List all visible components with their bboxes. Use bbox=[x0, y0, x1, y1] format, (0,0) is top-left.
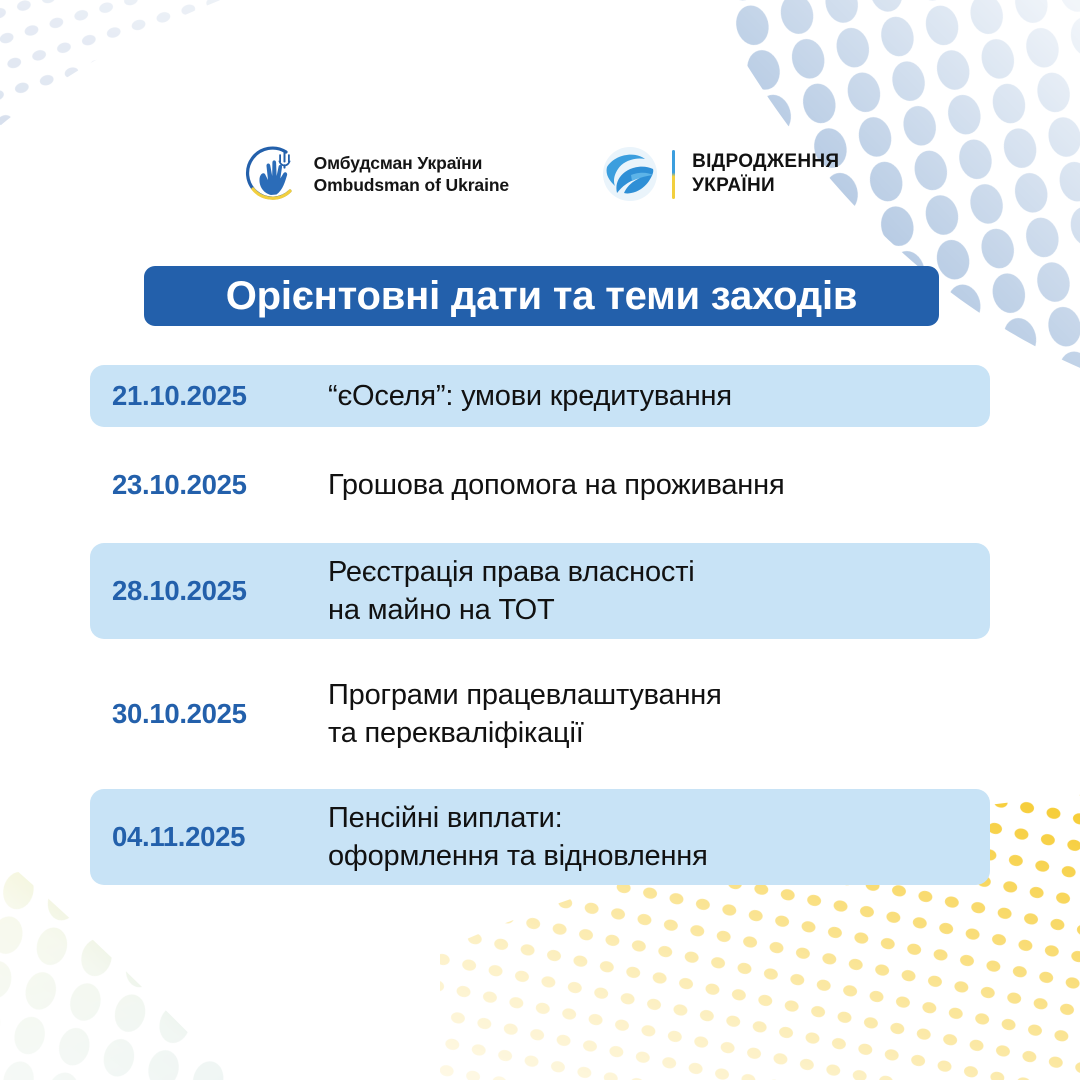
row-topic-line2: оформлення та відновлення bbox=[328, 837, 990, 875]
vidrodzhennia-logo-line1: ВІДРОДЖЕННЯ bbox=[692, 150, 839, 174]
table-row[interactable]: 28.10.2025 Реєстрація права власностіна … bbox=[90, 543, 990, 639]
row-date: 30.10.2025 bbox=[112, 698, 328, 730]
page-title-banner: Орієнтовні дати та теми заходів bbox=[144, 266, 939, 326]
row-topic: “єОселя”: умови кредитування bbox=[328, 377, 990, 415]
row-topic-line2: та перекваліфікації bbox=[328, 714, 990, 752]
row-topic-line1: Грошова допомога на проживання bbox=[328, 469, 784, 501]
table-row[interactable]: 23.10.2025 Грошова допомога на проживанн… bbox=[90, 454, 990, 516]
page-title: Орієнтовні дати та теми заходів bbox=[226, 276, 858, 316]
vidrodzhennia-logo: ВІДРОДЖЕННЯ УКРАЇНИ bbox=[601, 145, 839, 203]
row-spacer bbox=[90, 762, 990, 789]
schedule-list: 21.10.2025 “єОселя”: умови кредитування … bbox=[90, 365, 990, 885]
row-spacer bbox=[90, 639, 990, 666]
row-topic: Реєстрація права власностіна майно на ТО… bbox=[328, 553, 990, 630]
row-date: 23.10.2025 bbox=[112, 469, 328, 501]
ombudsman-logo: Омбудсман України Ombudsman of Ukraine bbox=[241, 143, 509, 205]
vidrodzhennia-logo-line2: УКРАЇНИ bbox=[692, 174, 839, 198]
row-spacer bbox=[90, 516, 990, 543]
ombudsman-logo-text: Омбудсман України Ombudsman of Ukraine bbox=[314, 152, 509, 196]
row-topic-line1: Реєстрація права власності bbox=[328, 556, 695, 588]
ombudsman-hand-trident-icon bbox=[241, 143, 303, 205]
row-date: 21.10.2025 bbox=[112, 380, 328, 412]
logo-row: Омбудсман України Ombudsman of Ukraine В… bbox=[0, 134, 1080, 214]
table-row[interactable]: 04.11.2025 Пенсійні виплати:оформлення т… bbox=[90, 789, 990, 885]
row-topic-line1: Пенсійні виплати: bbox=[328, 802, 563, 834]
vidrodzhennia-logo-text: ВІДРОДЖЕННЯ УКРАЇНИ bbox=[692, 150, 839, 199]
logo-divider bbox=[672, 150, 675, 199]
row-topic: Програми працевлаштуваннята перекваліфік… bbox=[328, 676, 990, 753]
ombudsman-logo-line1: Омбудсман України bbox=[314, 152, 509, 174]
row-topic-line1: Програми працевлаштування bbox=[328, 679, 722, 711]
row-topic: Грошова допомога на проживання bbox=[328, 466, 990, 504]
row-date: 04.11.2025 bbox=[112, 821, 328, 853]
row-topic-line2: на майно на ТОТ bbox=[328, 591, 990, 629]
row-date: 28.10.2025 bbox=[112, 575, 328, 607]
table-row[interactable]: 30.10.2025 Програми працевлаштуваннята п… bbox=[90, 666, 990, 762]
bird-in-circle-icon bbox=[601, 145, 659, 203]
row-spacer bbox=[90, 427, 990, 454]
row-topic: Пенсійні виплати:оформлення та відновлен… bbox=[328, 799, 990, 876]
table-row[interactable]: 21.10.2025 “єОселя”: умови кредитування bbox=[90, 365, 990, 427]
ombudsman-logo-line2: Ombudsman of Ukraine bbox=[314, 174, 509, 196]
row-topic-line1: “єОселя”: умови кредитування bbox=[328, 380, 732, 412]
poster-canvas: Омбудсман України Ombudsman of Ukraine В… bbox=[0, 0, 1080, 1080]
